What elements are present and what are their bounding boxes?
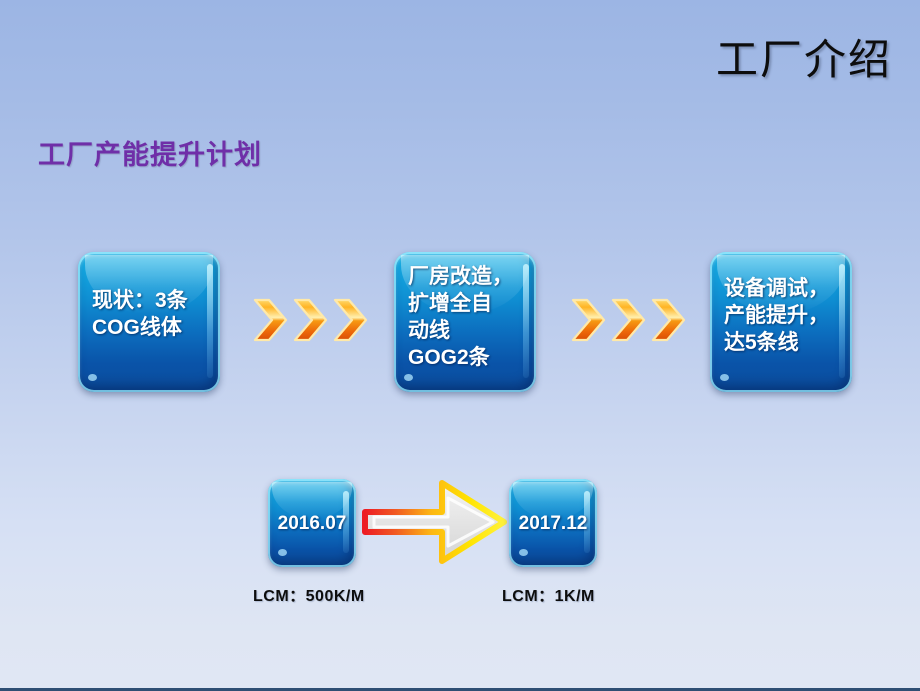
timeline-arrow-icon <box>360 476 510 568</box>
chevron-right-icon <box>332 297 370 343</box>
process-stage-label: 厂房改造， 扩增全自 动线 GOG2条 <box>394 264 536 372</box>
box-corner-highlight <box>720 374 729 381</box>
process-stage-box-3[interactable]: 设备调试， 产能提升， 达5条线 <box>710 252 852 392</box>
chevron-connector-2 <box>570 297 688 343</box>
milestone-caption-2017: LCM：1K/M <box>502 582 595 606</box>
page-title: 工厂介绍 <box>716 26 892 87</box>
chevron-right-icon <box>292 297 330 343</box>
box-corner-highlight <box>519 549 528 556</box>
process-stage-label: 现状：3条 COG线体 <box>78 288 220 342</box>
process-stage-box-2[interactable]: 厂房改造， 扩增全自 动线 GOG2条 <box>394 252 536 392</box>
milestone-box-2017[interactable]: 2017.12 <box>509 479 597 567</box>
section-subtitle: 工厂产能提升计划 <box>38 133 262 172</box>
chevron-right-icon <box>252 297 290 343</box>
chevron-connector-1 <box>252 297 370 343</box>
chevron-right-icon <box>570 297 608 343</box>
milestone-date-label: 2016.07 <box>268 512 356 536</box>
process-stage-box-1[interactable]: 现状：3条 COG线体 <box>78 252 220 392</box>
chevron-right-icon <box>610 297 648 343</box>
slide-canvas: 工厂介绍 工厂产能提升计划 现状：3条 COG线体 <box>0 0 920 691</box>
milestone-date-label: 2017.12 <box>509 512 597 536</box>
chevron-right-icon <box>650 297 688 343</box>
milestone-caption-2016: LCM：500K/M <box>253 582 365 606</box>
box-corner-highlight <box>88 374 97 381</box>
process-stage-label: 设备调试， 产能提升， 达5条线 <box>710 276 852 357</box>
milestone-box-2016[interactable]: 2016.07 <box>268 479 356 567</box>
box-corner-highlight <box>404 374 413 381</box>
box-corner-highlight <box>278 549 287 556</box>
